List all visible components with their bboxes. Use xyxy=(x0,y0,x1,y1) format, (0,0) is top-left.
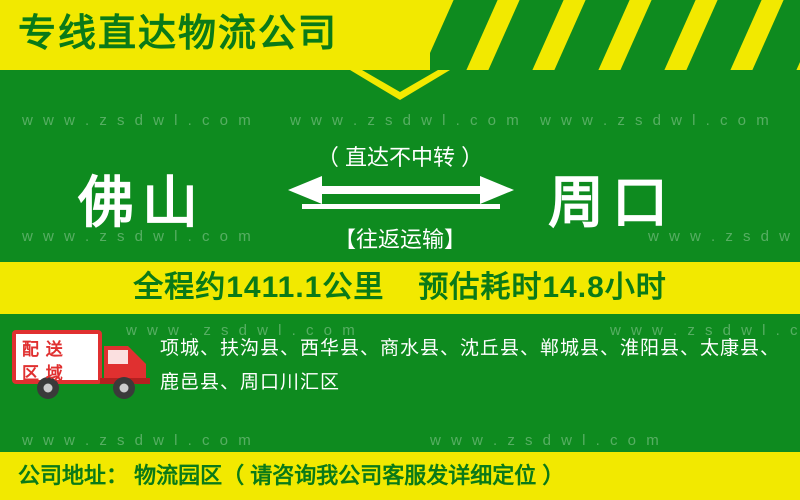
watermark-text: w w w . z s d w l . c o m xyxy=(22,112,254,129)
watermark-text: w w w . z s d w l . c o m xyxy=(22,432,254,449)
footer-band: 公司地址： 物流园区（ 请咨询我公司客服发详细定位 ） xyxy=(0,452,800,500)
duration-value: 预估耗时14.8小时 xyxy=(418,271,666,304)
watermark-text: w w w . z s d w l . c o m xyxy=(290,112,522,129)
page-title: 专线直达物流公司 xyxy=(18,8,338,60)
company-address: 公司地址： 物流园区（ 请咨询我公司客服发详细定位 ） xyxy=(18,460,564,492)
bidirectional-arrow-icon xyxy=(288,176,514,216)
truck-label-line1: 配 送 xyxy=(22,338,86,362)
truck-label: 配 送 区 域 xyxy=(22,338,86,386)
origin-city: 佛山 xyxy=(78,168,206,238)
truck-label-line2: 区 域 xyxy=(22,362,86,386)
chevron-decoration xyxy=(430,0,800,70)
route-note-bottom: 【往返运输】 xyxy=(300,222,500,254)
watermark-text: w w w . z s d w l . c o m xyxy=(430,432,662,449)
logistics-banner: w w w . z s d w l . c o mw w w . z s d w… xyxy=(0,0,800,500)
stats-text: 全程约1411.1公里预估耗时14.8小时 xyxy=(0,262,800,314)
distance-value: 全程约1411.1公里 xyxy=(133,271,384,304)
watermark-text: w w w . z s d w l . c o m xyxy=(540,112,772,129)
destination-city: 周口 xyxy=(548,168,676,238)
chevron-down-icon xyxy=(350,70,450,104)
stats-band: 全程约1411.1公里预估耗时14.8小时 xyxy=(0,262,800,314)
route-note-top: （ 直达不中转 ） xyxy=(300,140,500,172)
header-band: 专线直达物流公司 xyxy=(0,0,800,70)
coverage-area-text: 项城、扶沟县、西华县、商水县、沈丘县、郸城县、淮阳县、太康县、鹿邑县、周口川汇区 xyxy=(160,332,780,400)
